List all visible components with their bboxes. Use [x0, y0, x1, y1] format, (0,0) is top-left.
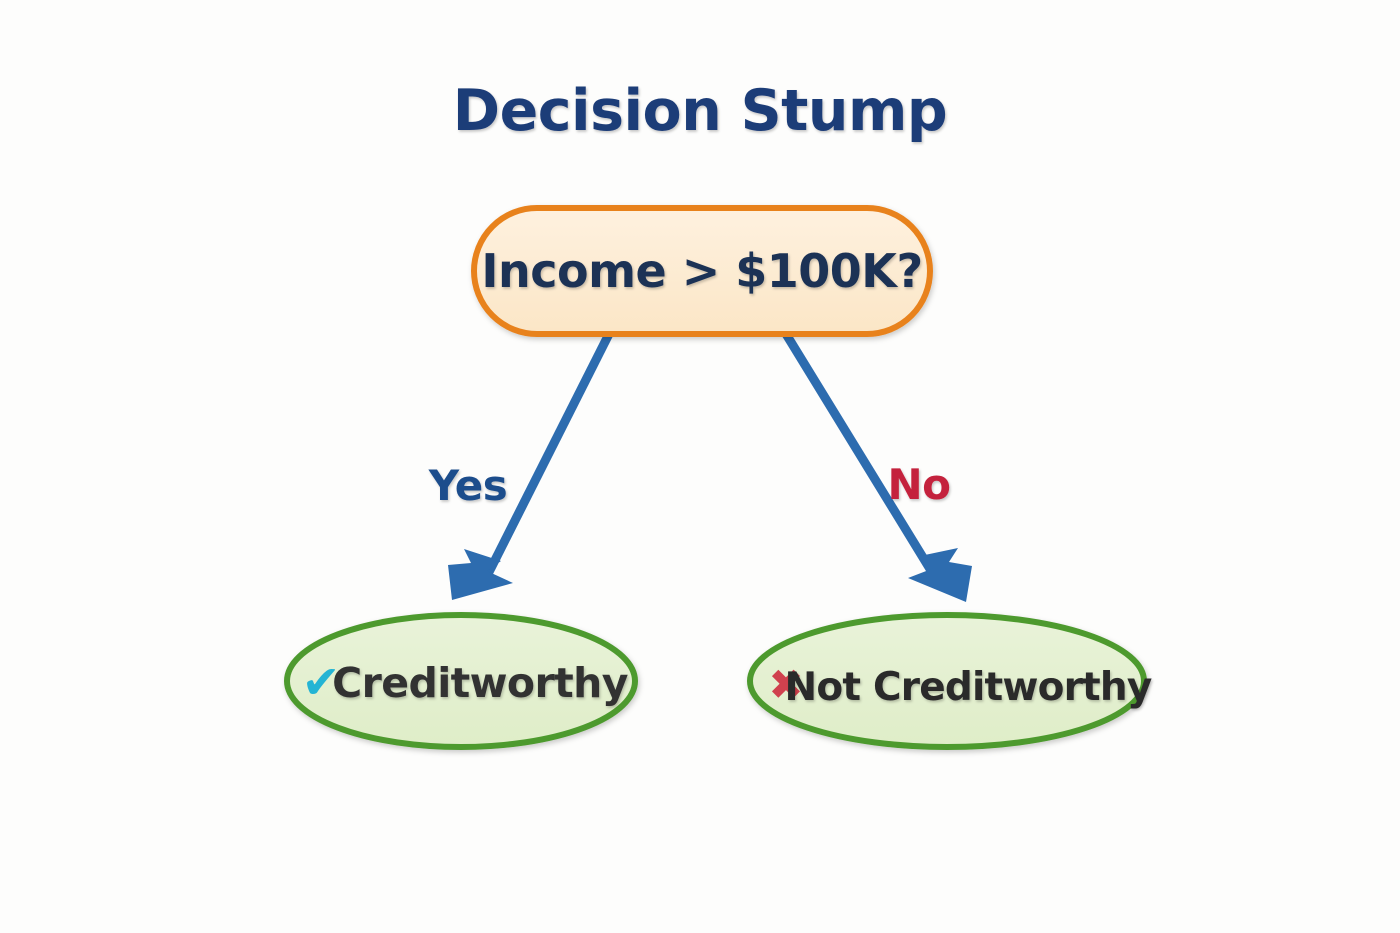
edge-label-no: No [887, 460, 950, 509]
edge-yes-arrowhead [448, 549, 513, 600]
edge-no-line [786, 334, 938, 582]
edge-label-yes: Yes [428, 461, 508, 510]
edge-yes-line [483, 334, 609, 584]
page-title: Decision Stump [453, 78, 947, 144]
root-node-label: Income > $100K? [481, 244, 922, 298]
leaf-node-creditworthy[interactable]: ✔ Creditworthy [287, 615, 635, 747]
decision-tree-diagram: Decision Stump Yes No Income > $100K? ✔ … [0, 0, 1400, 933]
diagram-canvas: Decision Stump Yes No Income > $100K? ✔ … [0, 0, 1400, 933]
root-node[interactable]: Income > $100K? [474, 208, 930, 334]
leaf-node-not-creditworthy[interactable]: ✖ Not Creditworthy [750, 615, 1152, 747]
leaf-node-creditworthy-label: Creditworthy [332, 659, 628, 707]
leaf-node-not-creditworthy-label: Not Creditworthy [785, 665, 1152, 710]
